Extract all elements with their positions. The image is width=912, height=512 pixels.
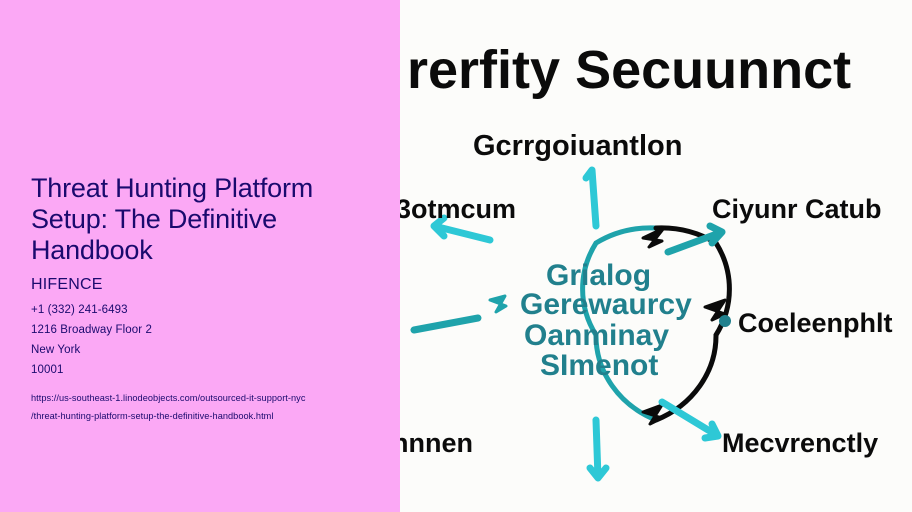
node-label-right-bottom: Mecvrenctly bbox=[722, 428, 878, 458]
brand-name: HIFENCE bbox=[31, 275, 381, 294]
contact-address-street: 1216 Broadway Floor 2 bbox=[31, 320, 381, 340]
page-root: Threat Hunting Platform Setup: The Defin… bbox=[0, 0, 912, 512]
source-url-line-1: https://us-southeast-1.linodeobjects.com… bbox=[31, 389, 381, 407]
node-label-left-top: 3otmcum bbox=[400, 194, 516, 224]
illustration-subheading: Gcrrgoiuantlon bbox=[473, 130, 682, 162]
bullet-marker-icon bbox=[719, 315, 731, 327]
source-url[interactable]: https://us-southeast-1.linodeobjects.com… bbox=[31, 389, 381, 425]
page-title: Threat Hunting Platform Setup: The Defin… bbox=[31, 173, 379, 266]
source-url-line-2: /threat-hunting-platform-setup-the-defin… bbox=[31, 407, 381, 425]
node-label-right-middle: Coeleenphlt bbox=[738, 308, 893, 338]
illustration-heading: rerfity Secuunnct bbox=[407, 40, 851, 100]
center-label-line-4: SImenot bbox=[540, 349, 658, 382]
contact-address-zip: 10001 bbox=[31, 360, 381, 380]
node-label-right-top: Ciyunr Catub bbox=[712, 194, 882, 224]
article-info-panel: Threat Hunting Platform Setup: The Defin… bbox=[0, 0, 400, 512]
contact-phone: +1 (332) 241-6493 bbox=[31, 300, 381, 320]
cycle-diagram-illustration: rerfity Secuunnct Gcrrgoiuantlon bbox=[400, 0, 912, 512]
article-info-content: Threat Hunting Platform Setup: The Defin… bbox=[31, 173, 381, 425]
center-label-line-3: Oanminay bbox=[524, 319, 669, 352]
illustration-panel: rerfity Secuunnct Gcrrgoiuantlon bbox=[400, 0, 912, 512]
contact-address-city: New York bbox=[31, 340, 381, 360]
center-label-line-2: Gerewaurcy bbox=[520, 288, 692, 321]
node-label-left-bottom: nnnen bbox=[400, 428, 473, 458]
